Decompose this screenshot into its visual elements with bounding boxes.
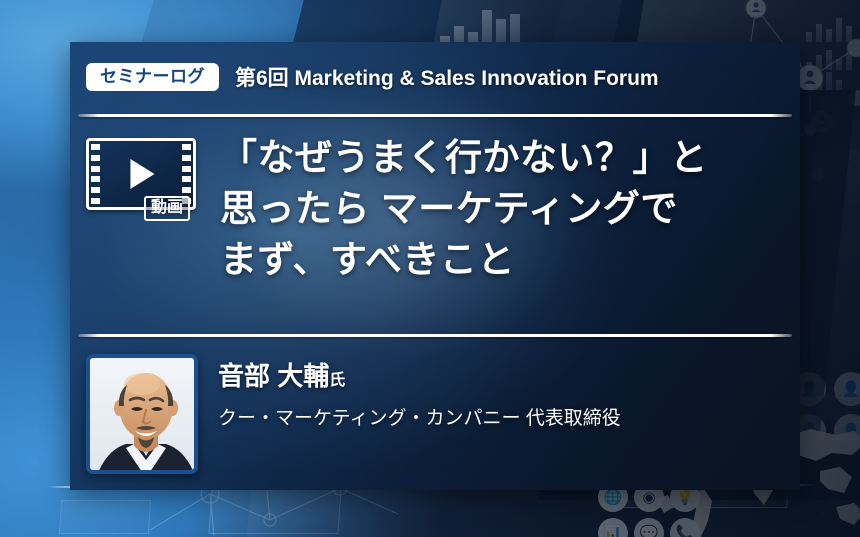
page-title: 「なぜうまく行かない？」と 思ったら マーケティングで まず、すべきこと <box>220 132 780 285</box>
speaker-divider <box>78 334 792 337</box>
title-line-2: 思ったら マーケティングで <box>220 183 780 234</box>
video-label: 動画 <box>144 196 190 221</box>
speaker-portrait <box>90 358 198 474</box>
avatar <box>86 354 198 474</box>
header-divider <box>78 114 792 117</box>
play-icon <box>130 159 154 189</box>
speaker-info: 音部 大輔氏 クー・マーケティング・カンパニー 代表取締役 <box>218 360 621 430</box>
film-perforations-right <box>182 144 191 204</box>
card-header: セミナーログ 第6回 Marketing & Sales Innovation … <box>86 62 659 92</box>
speaker-name-suffix: 氏 <box>329 372 345 389</box>
film-perforations-left <box>91 144 100 204</box>
speaker-name: 音部 大輔氏 <box>218 360 621 393</box>
speaker-role: クー・マーケティング・カンパニー 代表取締役 <box>218 403 621 430</box>
seminar-log-badge[interactable]: セミナーログ <box>86 63 219 91</box>
video-badge[interactable]: 動画 <box>86 138 216 234</box>
title-line-1: 「なぜうまく行かない？」と <box>220 132 780 183</box>
event-title: 第6回 Marketing & Sales Innovation Forum <box>235 62 659 92</box>
seminar-card: セミナーログ 第6回 Marketing & Sales Innovation … <box>70 42 800 490</box>
speaker-name-text: 音部 大輔 <box>218 361 329 391</box>
title-line-3: まず、すべきこと <box>220 234 780 285</box>
